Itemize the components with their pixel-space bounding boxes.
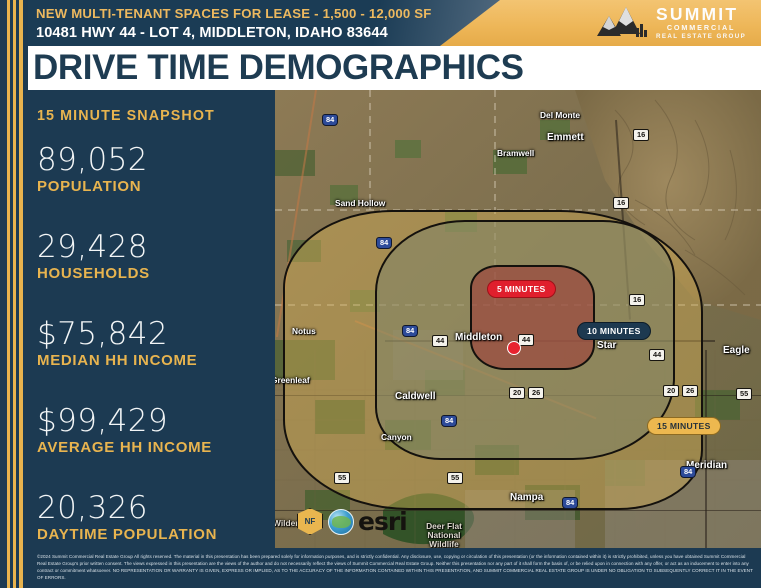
- stat-value: 89,052: [37, 142, 148, 178]
- logo-wordmark: SUMMIT COMMERCIAL REAL ESTATE GROUP: [656, 5, 746, 41]
- gold-stripe: [19, 0, 23, 588]
- snapshot-label: 15 MINUTE SNAPSHOT: [37, 108, 215, 124]
- city-label-wilder: Wilder: [275, 518, 299, 528]
- shield-i84: 84: [402, 325, 418, 337]
- listing-headline: NEW MULTI-TENANT SPACES FOR LEASE - 1,50…: [36, 4, 432, 23]
- shield-us20: 20: [509, 387, 525, 399]
- disclaimer-text: ©2024 Summit Commercial Real Estate Grou…: [37, 553, 753, 581]
- shield-i84: 84: [322, 114, 338, 126]
- drive-time-map[interactable]: 5 MINUTES 10 MINUTES 15 MINUTES Del Mont…: [275, 90, 761, 548]
- shield-id16: 16: [613, 197, 629, 209]
- city-label-greenleaf: Greenleaf: [275, 375, 310, 385]
- gold-stripe: [7, 0, 10, 588]
- header-banner: NEW MULTI-TENANT SPACES FOR LEASE - 1,50…: [0, 0, 761, 46]
- stat-population: 89,052 POPULATION: [37, 142, 148, 196]
- stat-label: DAYTIME POPULATION: [37, 525, 217, 544]
- logo-tagline-commercial: COMMERCIAL: [656, 23, 746, 32]
- drive-time-badge-10min: 10 MINUTES: [577, 322, 651, 340]
- gold-stripe: [13, 0, 16, 588]
- shield-i84: 84: [441, 415, 457, 427]
- shield-id55: 55: [447, 472, 463, 484]
- demographics-panel: 15 MINUTE SNAPSHOT 89,052 POPULATION 29,…: [28, 90, 275, 548]
- drive-time-badge-5min: 5 MINUTES: [487, 280, 556, 298]
- city-label-star: Star: [597, 340, 616, 351]
- shield-us26: 26: [528, 387, 544, 399]
- city-label-deer-flat-refuge: Deer Flat National Wildlife: [417, 522, 471, 548]
- stat-value: $99,429: [37, 403, 212, 439]
- stat-label: MEDIAN HH INCOME: [37, 351, 197, 370]
- shield-i84: 84: [376, 237, 392, 249]
- city-label-sand-hollow: Sand Hollow: [335, 198, 385, 208]
- left-edge-decoration: [0, 0, 28, 588]
- city-label-notus: Notus: [292, 326, 316, 336]
- listing-address: 10481 HWY 44 - LOT 4, MIDDLETON, IDAHO 8…: [36, 23, 432, 43]
- stat-label: HOUSEHOLDS: [37, 264, 150, 283]
- highway-55-road: [705, 350, 707, 548]
- stat-median-hh-income: $75,842 MEDIAN HH INCOME: [37, 316, 197, 370]
- page-title: DRIVE TIME DEMOGRAPHICS: [33, 47, 524, 89]
- city-label-caldwell: Caldwell: [395, 391, 436, 402]
- mountain-peaks-icon: [596, 4, 654, 42]
- logo-tagline-group: REAL ESTATE GROUP: [656, 32, 746, 41]
- drive-time-badge-15min: 15 MINUTES: [647, 417, 721, 435]
- esri-globe-icon: [328, 509, 354, 535]
- shield-us20: 20: [663, 385, 679, 397]
- shield-id55: 55: [334, 472, 350, 484]
- shield-id44: 44: [649, 349, 665, 361]
- stat-label: AVERAGE HH INCOME: [37, 438, 212, 457]
- shield-i84: 84: [562, 497, 578, 509]
- city-label-eagle: Eagle: [723, 345, 750, 356]
- map-attribution: NF esri: [297, 508, 407, 535]
- shield-i84: 84: [680, 466, 696, 478]
- shield-id55: 55: [736, 388, 752, 400]
- stat-value: 29,428: [37, 229, 150, 265]
- esri-wordmark: esri: [358, 509, 407, 534]
- city-label-middleton: Middleton: [455, 332, 502, 343]
- city-label-del-monte: Del Monte: [540, 110, 580, 120]
- city-label-nampa: Nampa: [510, 492, 543, 503]
- company-logo: SUMMIT COMMERCIAL REAL ESTATE GROUP: [596, 2, 756, 44]
- shield-id16: 16: [629, 294, 645, 306]
- stat-daytime-population: 20,326 DAYTIME POPULATION: [37, 490, 217, 544]
- shield-us26: 26: [682, 385, 698, 397]
- stat-value: 20,326: [37, 490, 217, 526]
- stat-households: 29,428 HOUSEHOLDS: [37, 229, 150, 283]
- header-text-block: NEW MULTI-TENANT SPACES FOR LEASE - 1,50…: [36, 4, 432, 43]
- shield-id44: 44: [518, 334, 534, 346]
- city-label-canyon: Canyon: [381, 432, 412, 442]
- property-location-marker[interactable]: [507, 341, 521, 355]
- city-label-bramwell: Bramwell: [497, 148, 534, 158]
- shield-id44: 44: [432, 335, 448, 347]
- footer-disclaimer-bar: ©2024 Summit Commercial Real Estate Grou…: [28, 548, 761, 588]
- stat-label: POPULATION: [37, 177, 148, 196]
- stat-average-hh-income: $99,429 AVERAGE HH INCOME: [37, 403, 212, 457]
- shield-id16: 16: [633, 129, 649, 141]
- logo-company-name: SUMMIT: [656, 5, 746, 23]
- stat-value: $75,842: [37, 316, 197, 352]
- city-label-emmett: Emmett: [547, 132, 584, 143]
- national-forest-badge-icon: NF: [297, 508, 323, 535]
